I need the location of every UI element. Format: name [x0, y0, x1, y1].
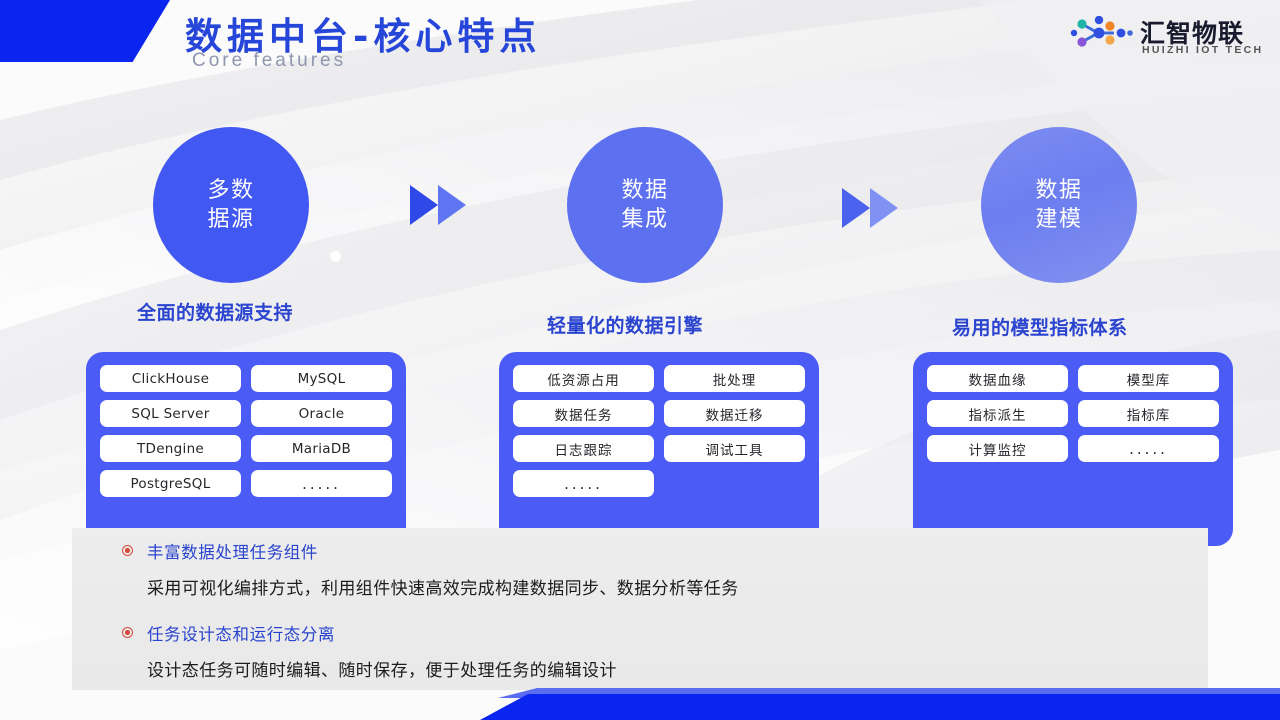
bullet-1-body: 采用可视化编排方式，利用组件快速高效完成构建数据同步、数据分析等任务 — [147, 574, 739, 599]
chip-low-resource[interactable]: 低资源占用 — [513, 365, 654, 392]
bullet-1-title: 丰富数据处理任务组件 — [147, 539, 318, 563]
column-2-caption: 轻量化的数据引擎 — [547, 311, 703, 338]
feature-panel-datasources: ClickHouse MySQL SQL Server Oracle TDeng… — [86, 352, 406, 546]
brand-logo: 汇智物联 HUIZHI IOT TECH — [1068, 16, 1268, 62]
radio-dot-icon-2 — [122, 627, 133, 638]
double-chevron-right-icon-2 — [840, 182, 902, 234]
chip-grid-1: ClickHouse MySQL SQL Server Oracle TDeng… — [100, 365, 392, 497]
column-3-caption: 易用的模型指标体系 — [952, 313, 1128, 340]
chip-mysql[interactable]: MySQL — [251, 365, 392, 392]
chip-oracle[interactable]: Oracle — [251, 400, 392, 427]
chip-tdengine[interactable]: TDengine — [100, 435, 241, 462]
details-panel: 丰富数据处理任务组件 采用可视化编排方式，利用组件快速高效完成构建数据同步、数据… — [72, 528, 1208, 690]
flow-step-2-line1: 数据 — [621, 176, 668, 205]
chip-compute-monitor[interactable]: 计算监控 — [927, 435, 1068, 462]
column-1-caption: 全面的数据源支持 — [137, 298, 293, 325]
slide-canvas: 数据中台-核心特点 Core features 汇智物联 HUIZHI IO — [0, 0, 1280, 720]
chip-more-3[interactable]: ..... — [1078, 435, 1219, 462]
flow-step-circle-2: 数据 集成 — [567, 127, 723, 283]
chip-data-lineage[interactable]: 数据血缘 — [927, 365, 1068, 392]
flow-step-circle-1: 多数 据源 — [153, 127, 309, 283]
chip-more-1[interactable]: ..... — [251, 470, 392, 497]
page-subtitle: Core features — [192, 50, 346, 72]
chip-more-2[interactable]: ..... — [513, 470, 654, 497]
flow-step-2-line2: 集成 — [621, 205, 668, 234]
chip-batch-processing[interactable]: 批处理 — [664, 365, 805, 392]
corner-accent-bottom-right — [480, 694, 1280, 720]
chip-metric-library[interactable]: 指标库 — [1078, 400, 1219, 427]
chip-postgresql[interactable]: PostgreSQL — [100, 470, 241, 497]
flow-step-3-line1: 数据 — [1035, 176, 1082, 205]
flow-step-1-line1: 多数 — [207, 176, 254, 205]
chip-empty-2 — [664, 470, 805, 497]
flow-step-circle-3: 数据 建模 — [981, 127, 1137, 283]
chip-data-migration[interactable]: 数据迁移 — [664, 400, 805, 427]
logo-name-en: HUIZHI IOT TECH — [1142, 44, 1263, 56]
chip-grid-2: 低资源占用 批处理 数据任务 数据迁移 日志跟踪 调试工具 ..... — [513, 365, 805, 497]
chip-data-task[interactable]: 数据任务 — [513, 400, 654, 427]
chip-clickhouse[interactable]: ClickHouse — [100, 365, 241, 392]
chip-sqlserver[interactable]: SQL Server — [100, 400, 241, 427]
decorative-dot — [330, 251, 341, 262]
feature-panel-modeling: 数据血缘 模型库 指标派生 指标库 计算监控 ..... — [913, 352, 1233, 546]
chip-metric-derivation[interactable]: 指标派生 — [927, 400, 1068, 427]
flow-step-3-line2: 建模 — [1035, 205, 1082, 234]
feature-panel-engine: 低资源占用 批处理 数据任务 数据迁移 日志跟踪 调试工具 ..... — [499, 352, 819, 546]
flow-step-1-line2: 据源 — [207, 205, 254, 234]
radio-dot-icon-1 — [122, 545, 133, 556]
chip-mariadb[interactable]: MariaDB — [251, 435, 392, 462]
chip-model-library[interactable]: 模型库 — [1078, 365, 1219, 392]
chip-grid-3: 数据血缘 模型库 指标派生 指标库 计算监控 ..... — [927, 365, 1219, 462]
bullet-2-title: 任务设计态和运行态分离 — [147, 621, 335, 645]
molecule-network-icon — [1068, 16, 1136, 50]
chip-debug-tool[interactable]: 调试工具 — [664, 435, 805, 462]
double-chevron-right-icon-1 — [408, 179, 470, 231]
bullet-2-body: 设计态任务可随时编辑、随时保存，便于处理任务的编辑设计 — [147, 656, 617, 681]
chip-log-tracing[interactable]: 日志跟踪 — [513, 435, 654, 462]
